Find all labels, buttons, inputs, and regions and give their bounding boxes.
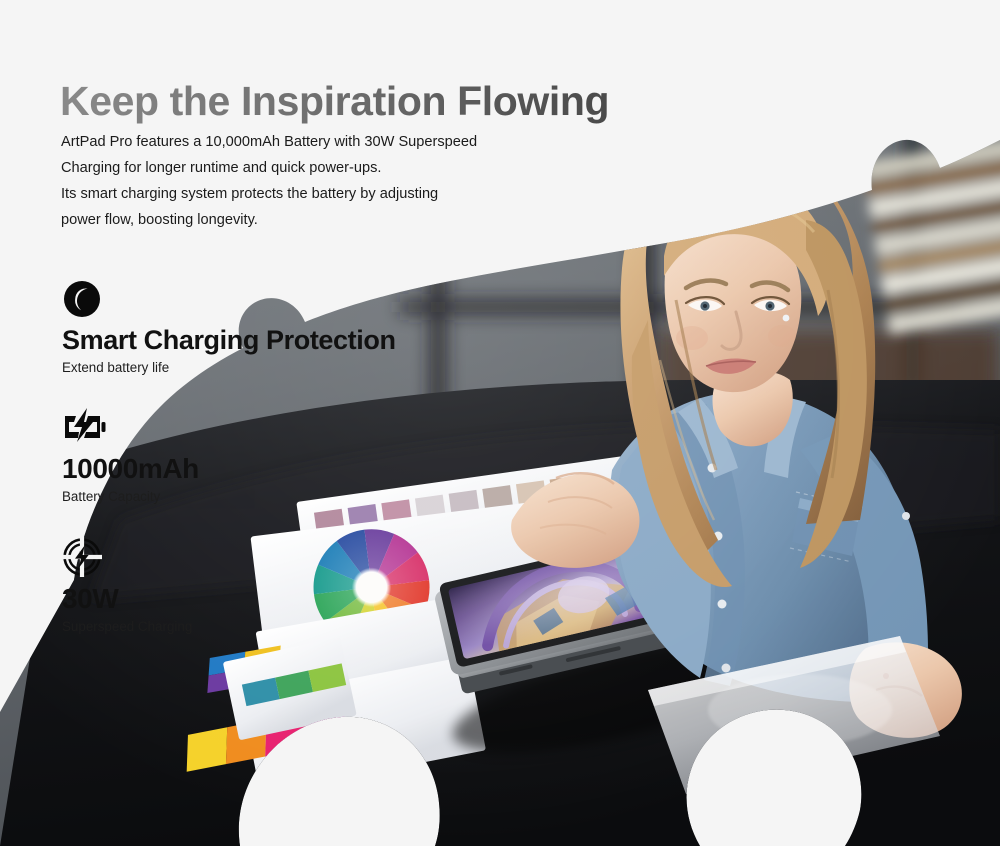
intro-line-2: Charging for longer runtime and quick po… bbox=[61, 155, 531, 181]
feature-battery-capacity: 10000mAh Battery Capacity bbox=[62, 407, 199, 506]
intro-line-1: ArtPad Pro features a 10,000mAh Battery … bbox=[61, 129, 531, 155]
intro-line-4: power flow, boosting longevity. bbox=[61, 207, 531, 233]
feature-subtitle: Superspeed Charging bbox=[62, 618, 192, 635]
battery-bolt-icon bbox=[62, 407, 199, 447]
crescent-moon-icon bbox=[62, 279, 396, 319]
intro-paragraph: ArtPad Pro features a 10,000mAh Battery … bbox=[61, 129, 531, 233]
feature-title: Smart Charging Protection bbox=[62, 325, 396, 355]
feature-superspeed-charging: 30W Superspeed Charging bbox=[62, 537, 192, 636]
page-title: Keep the Inspiration Flowing bbox=[60, 79, 609, 124]
intro-line-3: Its smart charging system protects the b… bbox=[61, 181, 531, 207]
feature-title: 30W bbox=[62, 583, 192, 614]
feature-title: 10000mAh bbox=[62, 453, 199, 484]
fast-charge-ring-icon bbox=[62, 537, 192, 577]
feature-subtitle: Battery Capacity bbox=[62, 488, 199, 505]
feature-smart-charging-protection: Smart Charging Protection Extend battery… bbox=[62, 279, 396, 377]
product-feature-page: Keep the Inspiration Flowing ArtPad Pro … bbox=[0, 0, 1000, 846]
feature-subtitle: Extend battery life bbox=[62, 359, 396, 376]
